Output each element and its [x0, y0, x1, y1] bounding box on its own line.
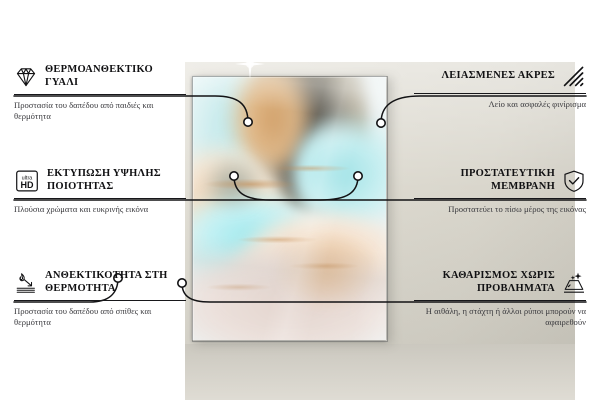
- feature-polished-edges: ΛΕΙΑΣΜΕΝΕΣ ΑΚΡΕΣ Λείο και ασφαλές φινίρι…: [414, 64, 586, 110]
- feature-easy-cleaning: ΚΑΘΑΡΙΣΜΟΣ ΧΩΡΙΣ ΠΡΟΒΛΗΜΑΤΑ Η αιθάλη, η …: [414, 270, 586, 328]
- feature-description: Προστασία του δαπέδου από σπίθες και θερ…: [14, 306, 186, 328]
- feature-title: ΛΕΙΑΣΜΕΝΕΣ ΑΚΡΕΣ: [441, 70, 555, 83]
- feature-divider: [414, 93, 586, 94]
- shield-check-icon: [562, 169, 586, 193]
- hatched-triangle-icon: [562, 64, 586, 88]
- feature-title: ΕΚΤΥΠΩΣΗ ΥΨΗΛΗΣ ΠΟΙΟΤΗΤΑΣ: [47, 168, 186, 193]
- feature-thermal-resistant-glass: ΘΕΡΜΟΑΝΘΕΚΤΙΚΟ ΓΥΑΛΙ Προστασία του δαπέδ…: [14, 64, 186, 122]
- feature-title: ΘΕΡΜΟΑΝΘΕΚΤΙΚΟ ΓΥΑΛΙ: [45, 64, 186, 89]
- feature-heat-resistance: ΑΝΘΕΚΤΙΚΟΤΗΤΑ ΣΤΗ ΘΕΡΜΟΤΗΤΑ Προστασία το…: [14, 270, 186, 328]
- feature-title: ΚΑΘΑΡΙΣΜΟΣ ΧΩΡΙΣ ΠΡΟΒΛΗΜΑΤΑ: [414, 270, 555, 295]
- connector-endpoint-print: [354, 172, 362, 180]
- feature-title: ΑΝΘΕΚΤΙΚΟΤΗΤΑ ΣΤΗ ΘΕΡΜΟΤΗΤΑ: [45, 270, 186, 295]
- diamond-icon: [14, 65, 38, 89]
- feature-high-quality-print: ultra HD ΕΚΤΥΠΩΣΗ ΥΨΗΛΗΣ ΠΟΙΟΤΗΤΑΣ Πλούσ…: [14, 168, 186, 215]
- feature-divider: [14, 300, 186, 301]
- sparkle-surface-icon: [562, 271, 586, 295]
- feature-description: Προστασία του δαπέδου από παιδιές και θε…: [14, 100, 186, 122]
- feature-description: Πλούσια χρώματα και ευκρινής εικόνα: [14, 204, 186, 215]
- flame-on-surface-icon: [14, 271, 38, 295]
- feature-divider: [414, 300, 586, 301]
- ultra-hd-large-label: HD: [21, 179, 34, 189]
- connector-endpoint-membrane: [230, 172, 238, 180]
- feature-description: Η αιθάλη, η στάχτη ή άλλοι ρύποι μπορούν…: [414, 306, 586, 328]
- feature-divider: [14, 198, 186, 199]
- feature-protective-membrane: ΠΡΟΣΤΑΤΕΥΤΙΚΗ ΜΕΜΒΡΑΝΗ Προστατεύει το πί…: [414, 168, 586, 215]
- feature-description: Προστατεύει το πίσω μέρος της εικόνας: [414, 204, 586, 215]
- feature-title: ΠΡΟΣΤΑΤΕΥΤΙΚΗ ΜΕΜΒΡΑΝΗ: [414, 168, 555, 193]
- connector-endpoint-edges: [377, 119, 385, 127]
- feature-divider: [414, 198, 586, 199]
- ultra-hd-icon: ultra HD: [14, 169, 40, 193]
- connector-endpoint-glass: [244, 118, 252, 126]
- feature-description: Λείο και ασφαλές φινίρισμα: [414, 99, 586, 110]
- feature-divider: [14, 94, 186, 95]
- infographic-canvas: ΘΕΡΜΟΑΝΘΕΚΤΙΚΟ ΓΥΑΛΙ Προστασία του δαπέδ…: [0, 0, 600, 400]
